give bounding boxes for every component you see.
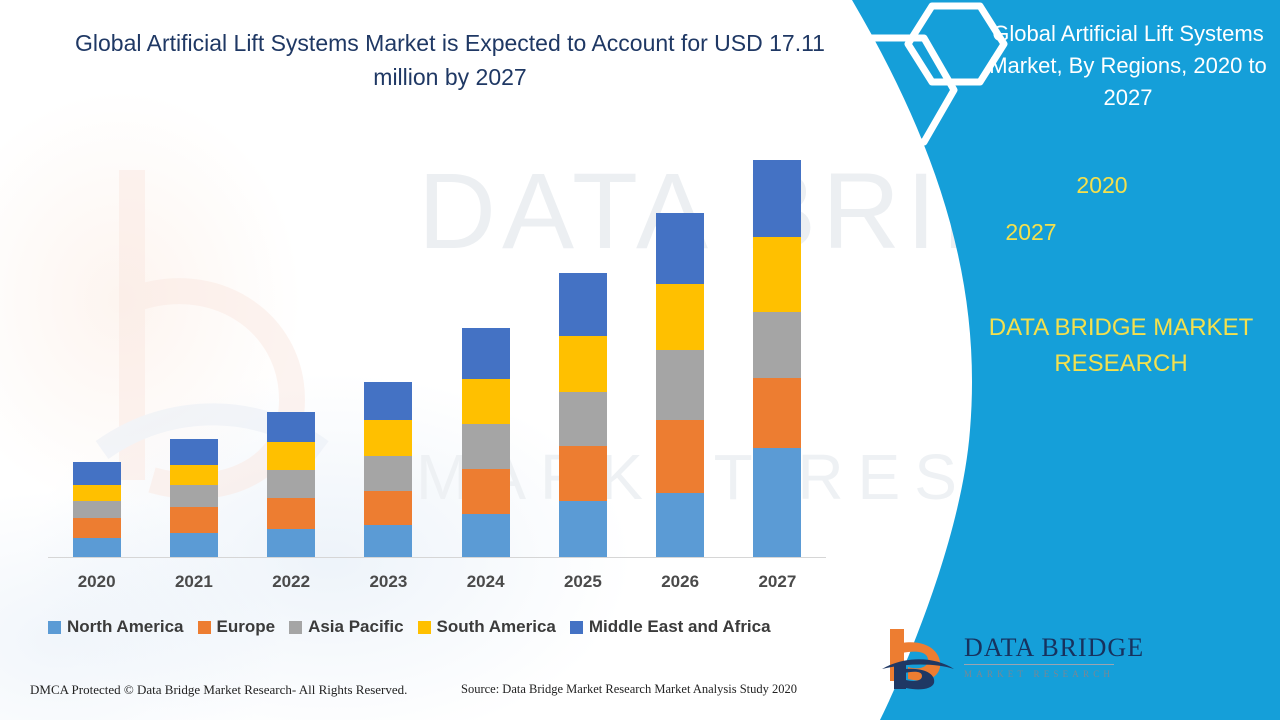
legend-swatch-icon <box>418 621 431 634</box>
bar-segment <box>267 529 315 557</box>
bar-column <box>267 150 315 557</box>
footer-source: Source: Data Bridge Market Research Mark… <box>461 682 797 697</box>
footer-copyright: DMCA Protected © Data Bridge Market Rese… <box>30 682 407 698</box>
x-axis-tick-label: 2026 <box>656 572 704 592</box>
hexagon-2020-icon <box>908 6 1004 82</box>
brand-line-1: DATA BRIDGE MARKET <box>989 314 1253 341</box>
hexagon-2027-label: 2027 <box>988 219 1074 246</box>
legend-swatch-icon <box>570 621 583 634</box>
bar-segment <box>462 328 510 379</box>
x-axis-tick-label: 2025 <box>559 572 607 592</box>
bar-column <box>170 150 218 557</box>
bar-group <box>48 150 826 557</box>
x-axis-tick-label: 2024 <box>462 572 510 592</box>
bar-segment <box>753 312 801 378</box>
bar-segment <box>559 446 607 502</box>
infographic-root: DATA BRIDGE MARKET RESEARCH Global Artif… <box>0 0 1280 720</box>
bar-segment <box>364 456 412 490</box>
hexagon-2020-label: 2020 <box>1062 172 1142 199</box>
x-axis-tick-label: 2023 <box>364 572 412 592</box>
bar-column <box>73 150 121 557</box>
bar-column <box>364 150 412 557</box>
legend-item[interactable]: South America <box>418 617 556 637</box>
brand-panel: Global Artificial Lift Systems Market, B… <box>820 0 1280 720</box>
bar-segment <box>267 412 315 442</box>
bar-segment <box>73 501 121 518</box>
legend-item[interactable]: Asia Pacific <box>289 617 403 637</box>
hexagon-badges <box>820 0 1040 150</box>
x-axis-line <box>48 557 826 558</box>
bar-segment <box>656 493 704 557</box>
bar-column <box>559 150 607 557</box>
bar-segment <box>559 392 607 446</box>
chart-plot-area: 20202021202220232024202520262027 <box>0 0 880 720</box>
bar-segment <box>559 501 607 557</box>
bar-column <box>462 150 510 557</box>
legend-swatch-icon <box>48 621 61 634</box>
bar-segment <box>170 465 218 485</box>
bar-segment <box>559 336 607 392</box>
brand-name: DATA BRIDGE MARKET RESEARCH <box>966 310 1276 382</box>
legend-label: North America <box>67 617 184 637</box>
bar-segment <box>73 518 121 537</box>
legend-item[interactable]: North America <box>48 617 184 637</box>
legend-swatch-icon <box>198 621 211 634</box>
logo-name: DATA BRIDGE <box>964 633 1114 663</box>
bar-segment <box>656 213 704 284</box>
x-axis-tick-label: 2022 <box>267 572 315 592</box>
footer: DMCA Protected © Data Bridge Market Rese… <box>0 682 880 706</box>
bar-segment <box>753 378 801 448</box>
logo-mark-icon <box>880 625 956 691</box>
legend-label: Europe <box>217 617 276 637</box>
bar-segment <box>73 538 121 557</box>
legend-label: Asia Pacific <box>308 617 403 637</box>
logo-text: DATA BRIDGE MARKET RESEARCH <box>964 633 1114 681</box>
logo-subtitle: MARKET RESEARCH <box>964 664 1114 681</box>
bar-segment <box>364 382 412 419</box>
bar-segment <box>656 420 704 493</box>
x-axis-labels: 20202021202220232024202520262027 <box>48 572 826 592</box>
bar-segment <box>364 420 412 456</box>
x-axis-tick-label: 2021 <box>170 572 218 592</box>
bar-segment <box>462 514 510 557</box>
bar-column <box>656 150 704 557</box>
data-bridge-logo: DATA BRIDGE MARKET RESEARCH <box>880 625 1110 697</box>
bar-segment <box>73 462 121 486</box>
legend-swatch-icon <box>289 621 302 634</box>
bar-column <box>753 150 801 557</box>
legend-label: South America <box>437 617 556 637</box>
hexagon-2027-icon <box>834 38 954 142</box>
bar-segment <box>170 507 218 534</box>
bar-segment <box>753 237 801 312</box>
legend-item[interactable]: Europe <box>198 617 276 637</box>
legend-item[interactable]: Middle East and Africa <box>570 617 771 637</box>
brand-line-2: RESEARCH <box>1054 350 1187 377</box>
bar-segment <box>656 350 704 420</box>
bar-segment <box>170 485 218 506</box>
bar-segment <box>753 160 801 237</box>
bar-segment <box>267 442 315 470</box>
bar-segment <box>462 469 510 514</box>
bar-segment <box>559 273 607 336</box>
x-axis-tick-label: 2020 <box>73 572 121 592</box>
bar-segment <box>73 485 121 501</box>
bar-segment <box>267 470 315 498</box>
bar-segment <box>267 498 315 529</box>
bar-segment <box>656 284 704 350</box>
chart-legend: North AmericaEuropeAsia PacificSouth Ame… <box>48 617 838 637</box>
bar-segment <box>170 439 218 465</box>
x-axis-tick-label: 2027 <box>753 572 801 592</box>
bar-segment <box>364 525 412 557</box>
legend-label: Middle East and Africa <box>589 617 771 637</box>
bar-segment <box>462 424 510 469</box>
bar-segment <box>753 448 801 557</box>
bar-segment <box>364 491 412 525</box>
bar-segment <box>462 379 510 424</box>
bar-segment <box>170 533 218 557</box>
